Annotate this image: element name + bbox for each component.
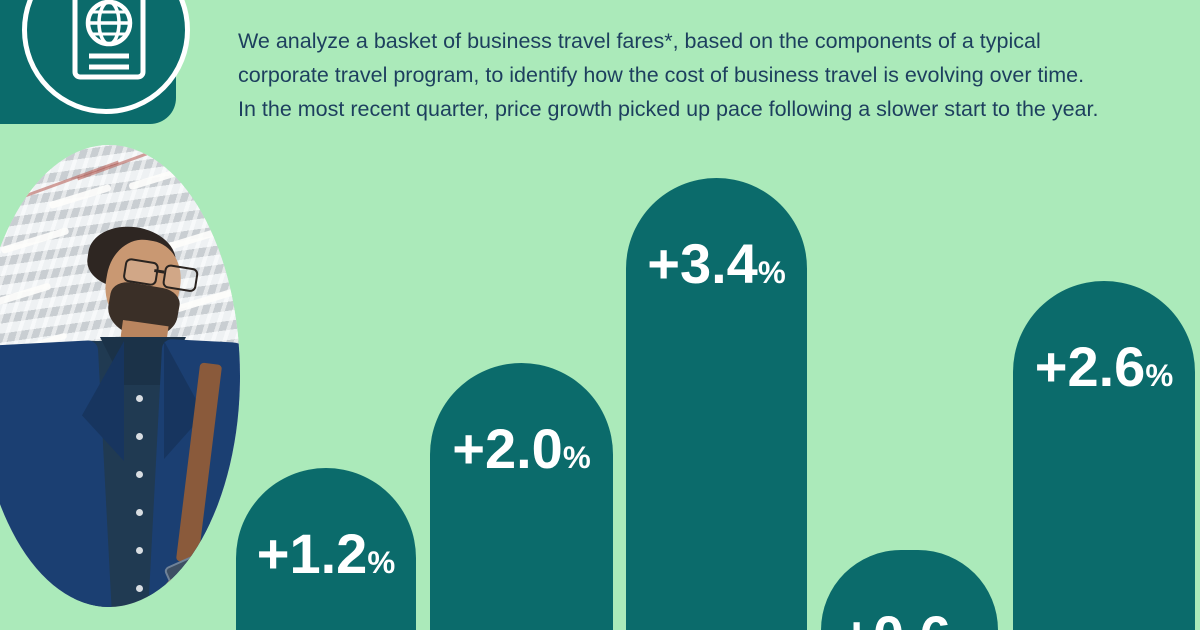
deck-line-1: We analyze a basket of business travel f… (238, 24, 1190, 58)
bar-3-value: +3.4 (647, 232, 758, 295)
page-title: Business Travel Price Index (238, 0, 1188, 5)
bar-2-value-label: +2.0% (430, 421, 613, 477)
photo-subject-jacket (0, 340, 114, 607)
bar-4-value: +0.6 (840, 604, 951, 630)
bar-3-value-label: +3.4% (626, 236, 807, 292)
bar-5-unit: % (1145, 358, 1173, 393)
bar-5-value: +2.6 (1035, 335, 1146, 398)
bar-3-unit: % (758, 255, 786, 290)
bar-5 (1013, 281, 1195, 630)
deck-line-2: corporate travel program, to identify ho… (238, 58, 1190, 92)
bar-1-value: +1.2 (257, 522, 368, 585)
bar-5-value-label: +2.6% (1013, 339, 1195, 395)
bar-2-unit: % (563, 440, 591, 475)
businessman-photo (0, 145, 240, 607)
bar-1-value-label: +1.2% (236, 526, 416, 582)
infographic-canvas: +1.2%+2.0%+3.4%+0.6%+2.6% Business Trave… (0, 0, 1200, 630)
deck-line-3: In the most recent quarter, price growth… (238, 92, 1190, 126)
bar-1-unit: % (367, 545, 395, 580)
deck-text: We analyze a basket of business travel f… (238, 24, 1190, 126)
bar-2 (430, 363, 613, 630)
bar-4-value-label: +0.6% (821, 608, 998, 630)
bar-2-value: +2.0 (452, 417, 563, 480)
